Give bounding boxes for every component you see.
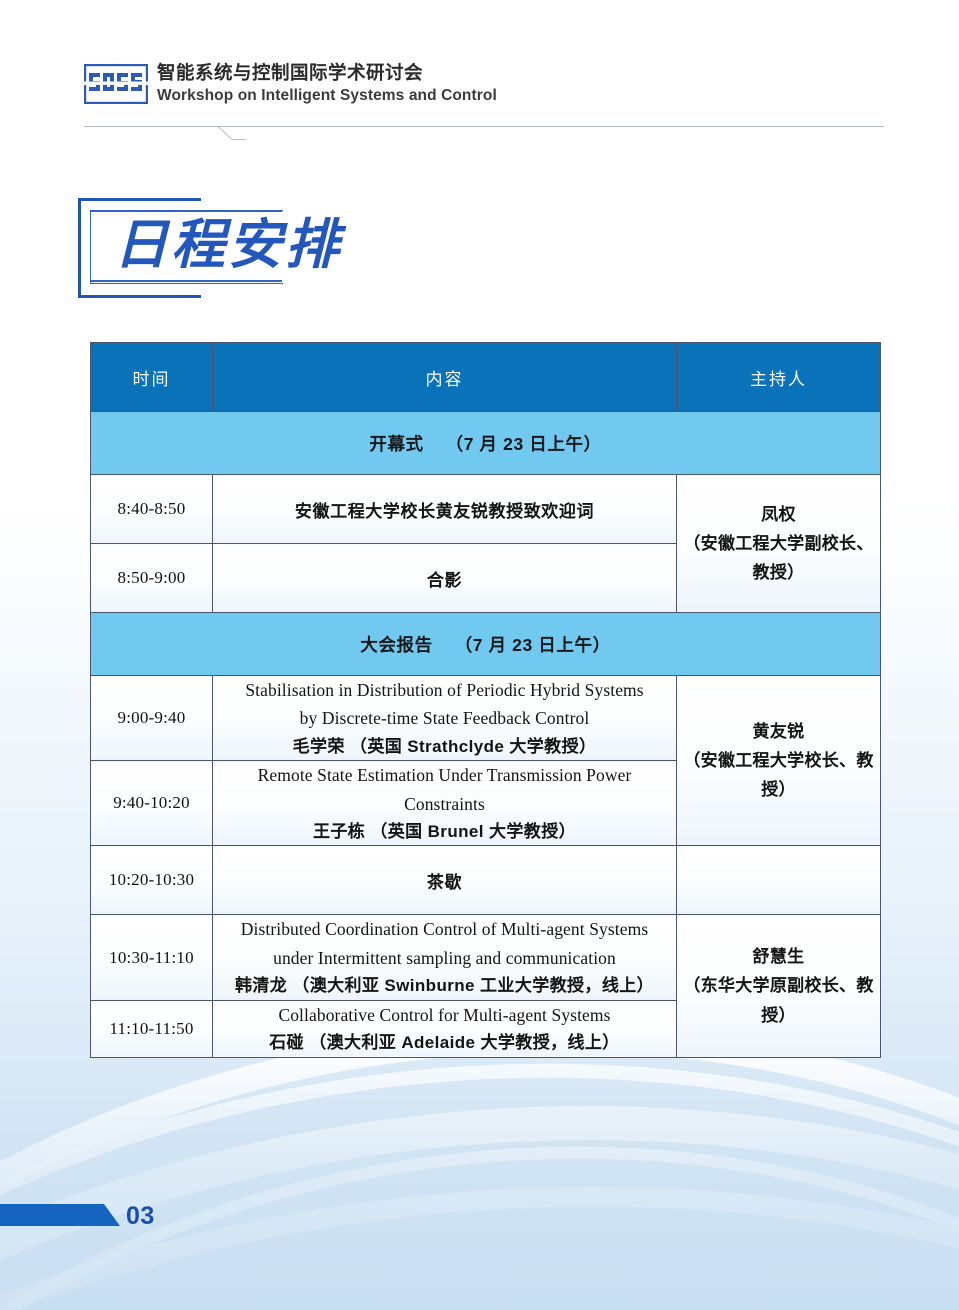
talk-speaker: 韩清龙 （澳大利亚 Swinburne 工业大学教授，线上） [213,972,676,1000]
section-banner-row: 开幕式（7 月 23 日上午） [91,412,881,475]
table-row: 9:00-9:40 Stabilisation in Distribution … [91,676,881,761]
talk-title-line: Constraints [213,790,676,818]
column-header-host: 主持人 [677,343,881,412]
talk-title-line: Distributed Coordination Control of Mult… [213,915,676,943]
talk-speaker: 毛学荣 （英国 Strathclyde 大学教授） [213,733,676,761]
column-header-time: 时间 [91,343,213,412]
section-title-block: 日程安排 [78,198,388,298]
page-footer: 03 [0,1200,260,1236]
title-frame-inner-bottom [90,280,282,282]
cell-host-empty [677,846,881,915]
talk-title-line: Stabilisation in Distribution of Periodi… [213,676,676,704]
cell-host: 舒慧生 （东华大学原副校长、教授） [677,915,881,1057]
cell-content: 茶歇 [213,846,677,915]
cell-content: 合影 [213,544,677,613]
host-affiliation: （安徽工程大学副校长、教授） [677,529,880,587]
cell-content: Collaborative Control for Multi-agent Sy… [213,1000,677,1057]
page-footer-bar [0,1200,120,1230]
table-row-break: 10:20-10:30 茶歇 [91,846,881,915]
talk-title-line: under Intermittent sampling and communic… [213,944,676,972]
host-name: 凤权 [677,500,880,529]
cell-time: 9:00-9:40 [91,676,213,761]
cell-content: 安徽工程大学校长黄友锐教授致欢迎词 [213,475,677,544]
host-affiliation: （安徽工程大学校长、教授） [677,746,880,804]
cell-time: 8:50-9:00 [91,544,213,613]
cell-host: 黄友锐 （安徽工程大学校长、教授） [677,676,881,846]
host-name: 舒慧生 [677,942,880,971]
host-affiliation: （东华大学原副校长、教授） [677,971,880,1029]
cell-content: Distributed Coordination Control of Mult… [213,915,677,1000]
talk-title-line: by Discrete-time State Feedback Control [213,704,676,732]
talk-speaker: 王子栋 （英国 Brunel 大学教授） [213,818,676,846]
runhead-title-en: Workshop on Intelligent Systems and Cont… [157,86,497,105]
schedule-table: 时间 内容 主持人 开幕式（7 月 23 日上午） 8:40-8:50 安徽工程… [90,342,881,1058]
header-rule [84,126,884,142]
cell-time: 10:30-11:10 [91,915,213,1000]
year-2025-logo-icon [84,64,148,104]
table-row: 8:40-8:50 安徽工程大学校长黄友锐教授致欢迎词 凤权 （安徽工程大学副校… [91,475,881,544]
page-title: 日程安排 [114,210,342,280]
section-banner-keynote: 大会报告（7 月 23 日上午） [91,613,881,676]
cell-time: 10:20-10:30 [91,846,213,915]
cell-time: 9:40-10:20 [91,761,213,846]
table-row: 10:30-11:10 Distributed Coordination Con… [91,915,881,1000]
background-arc [0,1021,959,1310]
background-haze [0,1060,959,1310]
column-header-content: 内容 [213,343,677,412]
table-header-row: 时间 内容 主持人 [91,343,881,412]
talk-speaker: 石碰 （澳大利亚 Adelaide 大学教授，线上） [213,1029,676,1057]
background-arc [0,1087,959,1310]
cell-host: 凤权 （安徽工程大学副校长、教授） [677,475,881,613]
section-banner-opening: 开幕式（7 月 23 日上午） [91,412,881,475]
host-name: 黄友锐 [677,717,880,746]
page-number: 03 [126,1202,155,1231]
runhead-title-cn: 智能系统与控制国际学术研讨会 [157,62,497,84]
section-banner-row: 大会报告（7 月 23 日上午） [91,613,881,676]
running-head: 智能系统与控制国际学术研讨会 Workshop on Intelligent S… [84,62,884,105]
talk-title-line: Collaborative Control for Multi-agent Sy… [213,1001,676,1029]
talk-title-line: Remote State Estimation Under Transmissi… [213,761,676,789]
cell-time: 8:40-8:50 [91,475,213,544]
cell-time: 11:10-11:50 [91,1000,213,1057]
cell-content: Remote State Estimation Under Transmissi… [213,761,677,846]
cell-content: Stabilisation in Distribution of Periodi… [213,676,677,761]
